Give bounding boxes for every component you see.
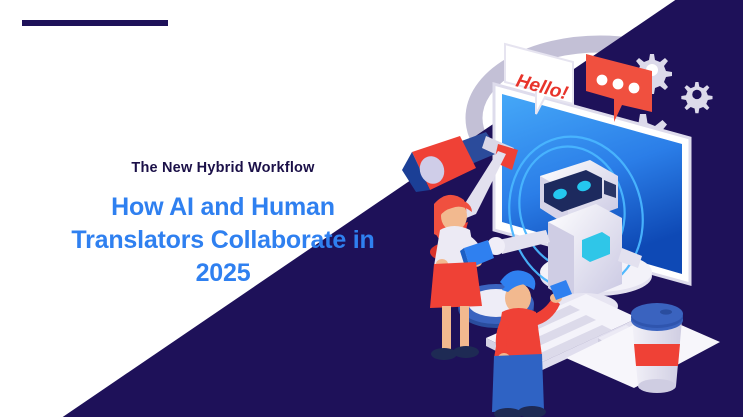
hero-illustration: Hello! [390,18,743,417]
woman-translator-icon [430,195,494,360]
top-accent-bar [22,20,168,26]
corner-arcs-decoration [0,289,150,417]
coffee-cup-icon [631,303,683,393]
headline-line-2: Translators Collaborate in [71,226,374,254]
kicker-text: The New Hybrid Workflow [58,160,388,177]
headline-text: How AI and Human Translators Collaborate… [58,191,388,290]
headline-line-3: 2025 [196,259,251,287]
blog-banner: Hello! [0,0,743,417]
headline-line-1: How AI and Human [111,193,335,221]
banner-text-block: The New Hybrid Workflow How AI and Human… [58,160,388,290]
